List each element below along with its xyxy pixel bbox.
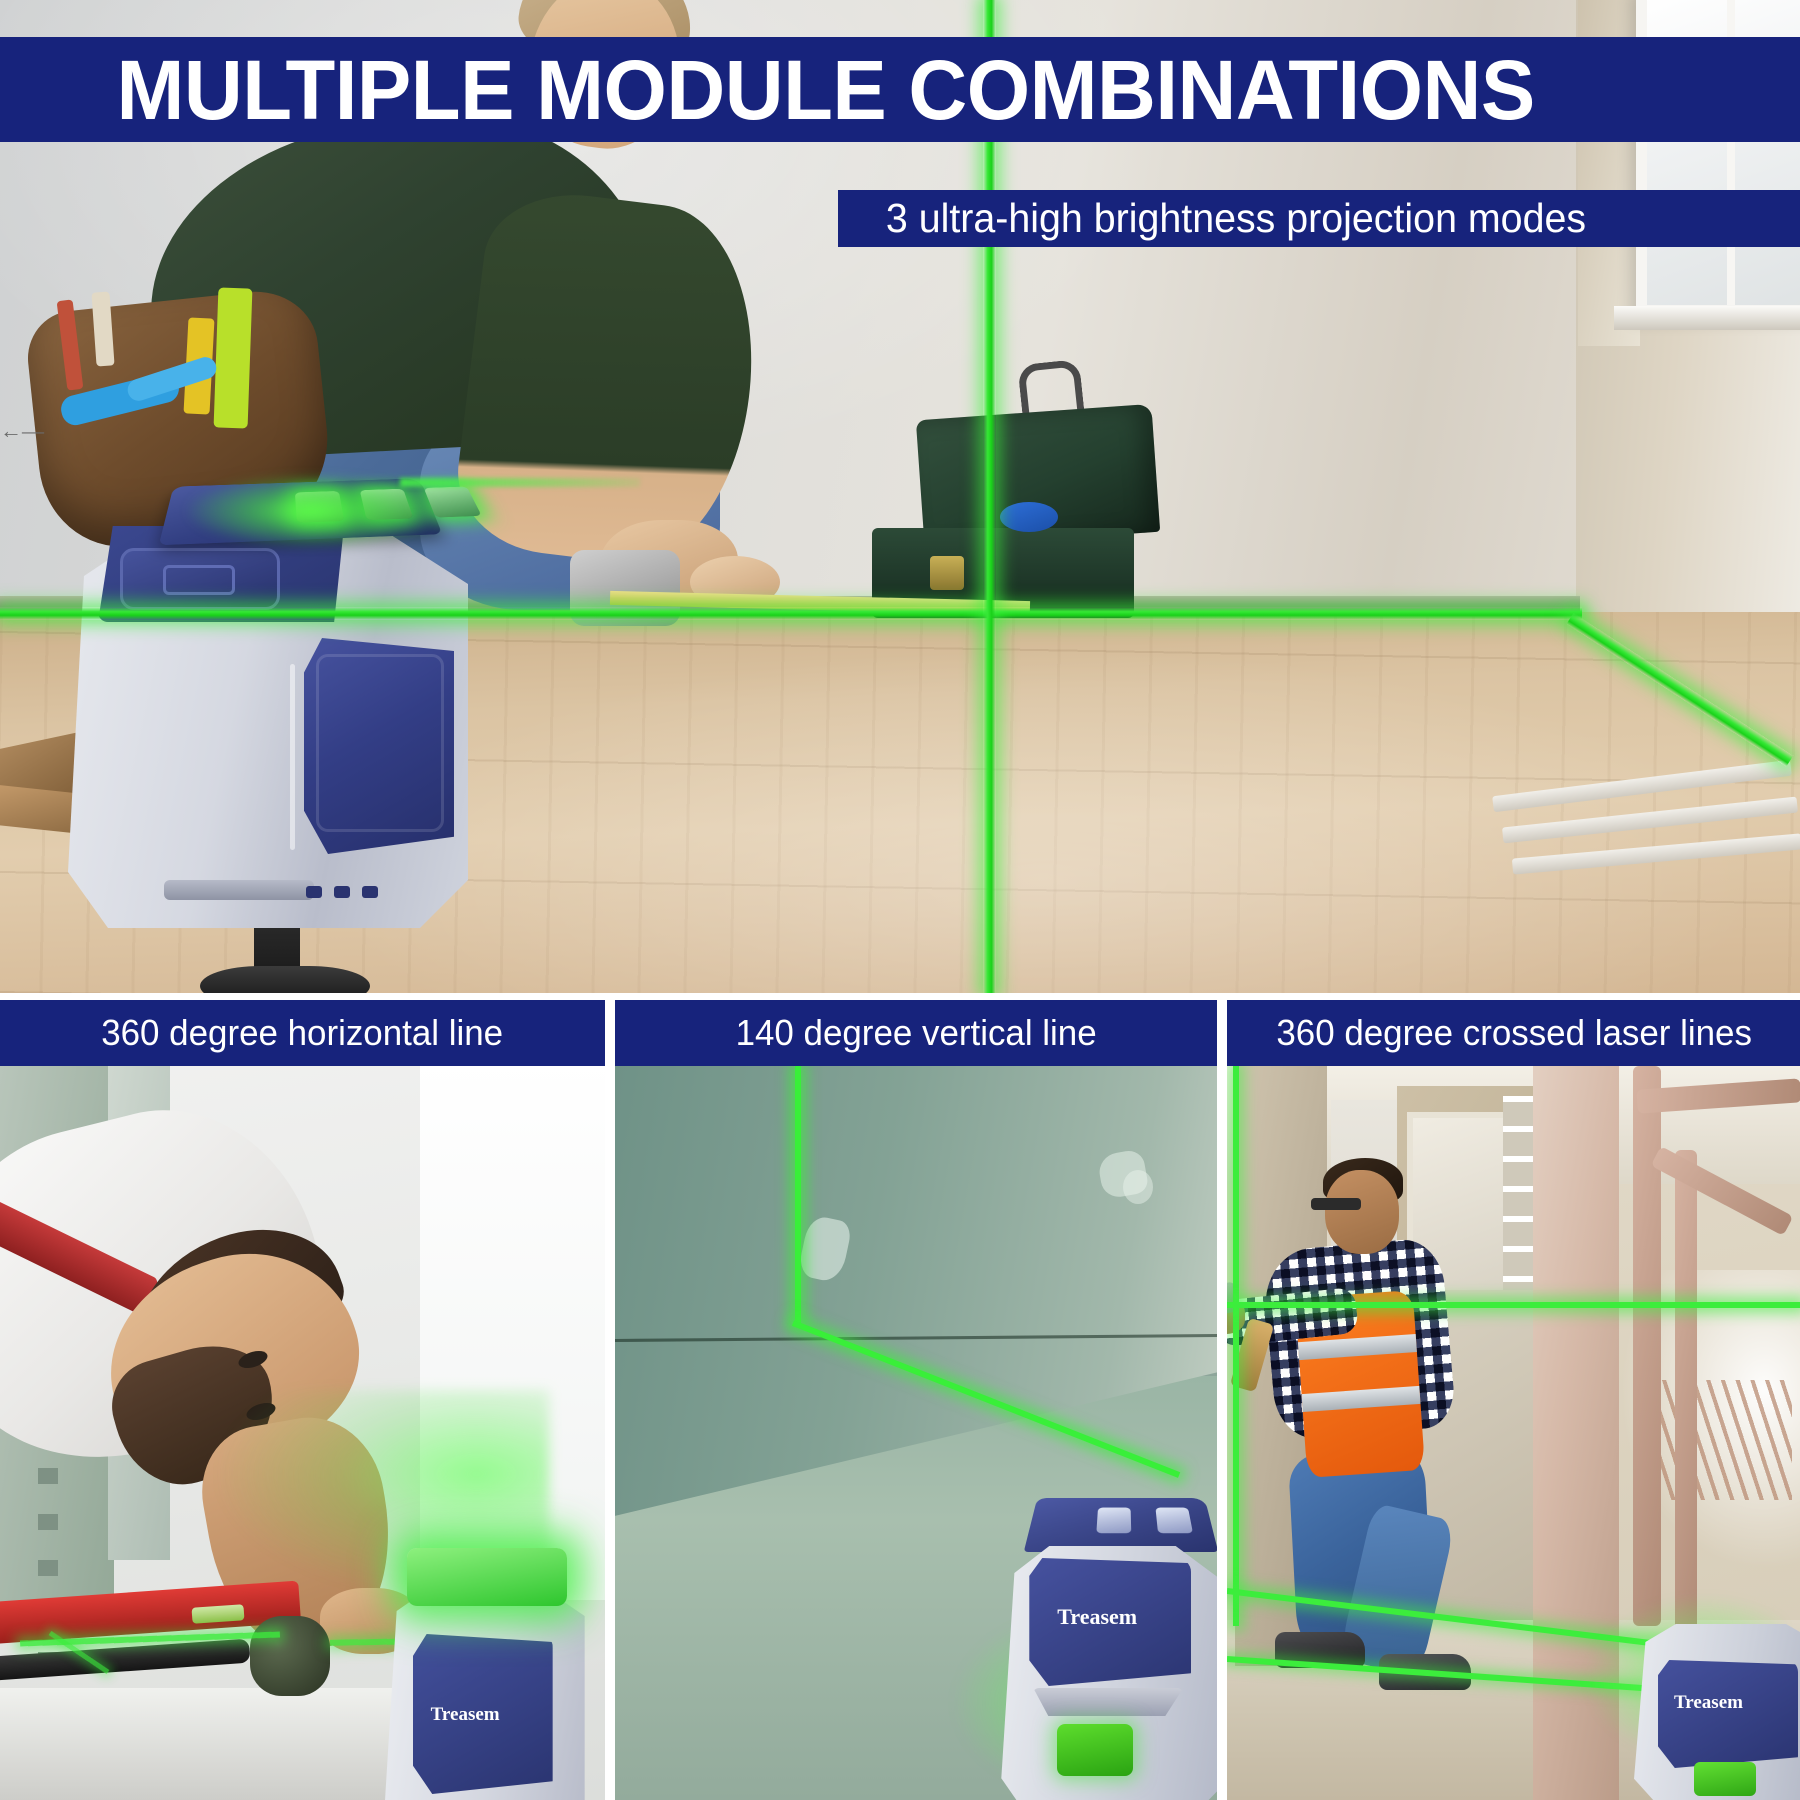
panel2-device-head: [1024, 1498, 1217, 1552]
panel3-label-text: 360 degree crossed laser lines: [1276, 1012, 1752, 1054]
title-banner: MULTIPLE MODULE COMBINATIONS: [0, 37, 1800, 142]
panel1-device-brand: Treasem: [431, 1704, 500, 1726]
page-subtitle: 3 ultra-high brightness projection modes: [853, 198, 1586, 239]
device-vent: [362, 886, 378, 898]
panel2-wall-patch: [1123, 1170, 1153, 1204]
panel3-scaffold-pipe: [1633, 1066, 1661, 1626]
window-sill: [1614, 306, 1800, 330]
panel1-hammer-head: [250, 1616, 330, 1696]
panel1-laser-device: Treasem: [385, 1526, 585, 1800]
panel3-laser-device: Treasem: [1614, 1564, 1800, 1800]
panel1-device-emitter: [407, 1548, 567, 1606]
feature-panel-vertical: Treasem 140 degree vertical line: [615, 1000, 1218, 1800]
worker-arm: [449, 184, 771, 575]
panel2-laser-device: Treasem: [991, 1488, 1217, 1800]
device-seam: [290, 664, 295, 850]
panel-divider: [605, 1000, 615, 1800]
device-front-panel: [304, 638, 454, 854]
panel3-device-panel: [1658, 1660, 1798, 1768]
panel2-label-text: 140 degree vertical line: [735, 1012, 1096, 1054]
device-vent: [334, 886, 350, 898]
panel2-device-brand: Treasem: [1057, 1604, 1137, 1630]
panel3-device-brand: Treasem: [1674, 1692, 1743, 1714]
belt-tool-level: [214, 287, 253, 428]
horizontal-laser-line: [0, 607, 1582, 620]
panel2-emitter-lens: [1156, 1508, 1194, 1534]
device-adjust-knob[interactable]: [120, 548, 280, 610]
laser-level-device: Treasem: [68, 468, 488, 968]
panel3-rebar-stack: [1642, 1380, 1792, 1500]
panel3-vertical-laser-line: [1233, 1066, 1239, 1626]
panel-divider: [1217, 1000, 1227, 1800]
panel3-worker-head: [1325, 1170, 1399, 1254]
panel1-label-text: 360 degree horizontal line: [101, 1012, 503, 1054]
panel-inner-bevel: [316, 654, 444, 832]
product-feature-poster: ←— Treasem: [0, 0, 1800, 1800]
panel3-construction-worker: [1283, 1170, 1503, 1650]
panel3-worker-glasses: [1311, 1198, 1361, 1210]
wall-pencil-marks: ←—: [0, 418, 90, 454]
panel2-device-grip: [1033, 1688, 1183, 1716]
feature-panel-horizontal: Treasem 360 degree horizontal line: [0, 1000, 605, 1800]
panel2-label-bar: 140 degree vertical line: [615, 1000, 1218, 1066]
panel2-vertical-laser-line: [795, 1066, 801, 1324]
toolbox-latch: [930, 556, 964, 590]
knob-inner-detail: [163, 565, 235, 595]
hero-scene-photo: ←— Treasem: [0, 0, 1800, 993]
panel3-label-bar: 360 degree crossed laser lines: [1227, 1000, 1800, 1066]
panel2-device-power-button[interactable]: [1057, 1724, 1133, 1776]
panel3-vest-reflective-band: [1302, 1386, 1421, 1412]
laser-emitter-glow: [186, 474, 436, 548]
panel3-horizontal-laser-line: [1227, 1302, 1800, 1308]
feature-panel-strip: Treasem 360 degree horizontal line: [0, 1000, 1800, 1800]
toolbox-blue-item: [1000, 502, 1058, 532]
panel3-device-power-button[interactable]: [1694, 1762, 1756, 1796]
panel1-label-bar: 360 degree horizontal line: [0, 1000, 605, 1066]
tripod-base: [200, 966, 370, 993]
vertical-laser-line: [983, 0, 996, 993]
page-title: MULTIPLE MODULE COMBINATIONS: [23, 48, 1534, 132]
belt-tool-chisel: [91, 291, 114, 366]
laser-beam-emission: [400, 478, 640, 487]
panel2-emitter-lens: [1097, 1508, 1132, 1534]
device-foot: [164, 880, 314, 900]
subtitle-banner: 3 ultra-high brightness projection modes: [838, 190, 1800, 247]
feature-panel-crossed: Treasem 360 degree crossed laser lines: [1227, 1000, 1800, 1800]
device-vent: [306, 886, 322, 898]
panel3-vest-reflective-band: [1298, 1334, 1417, 1360]
